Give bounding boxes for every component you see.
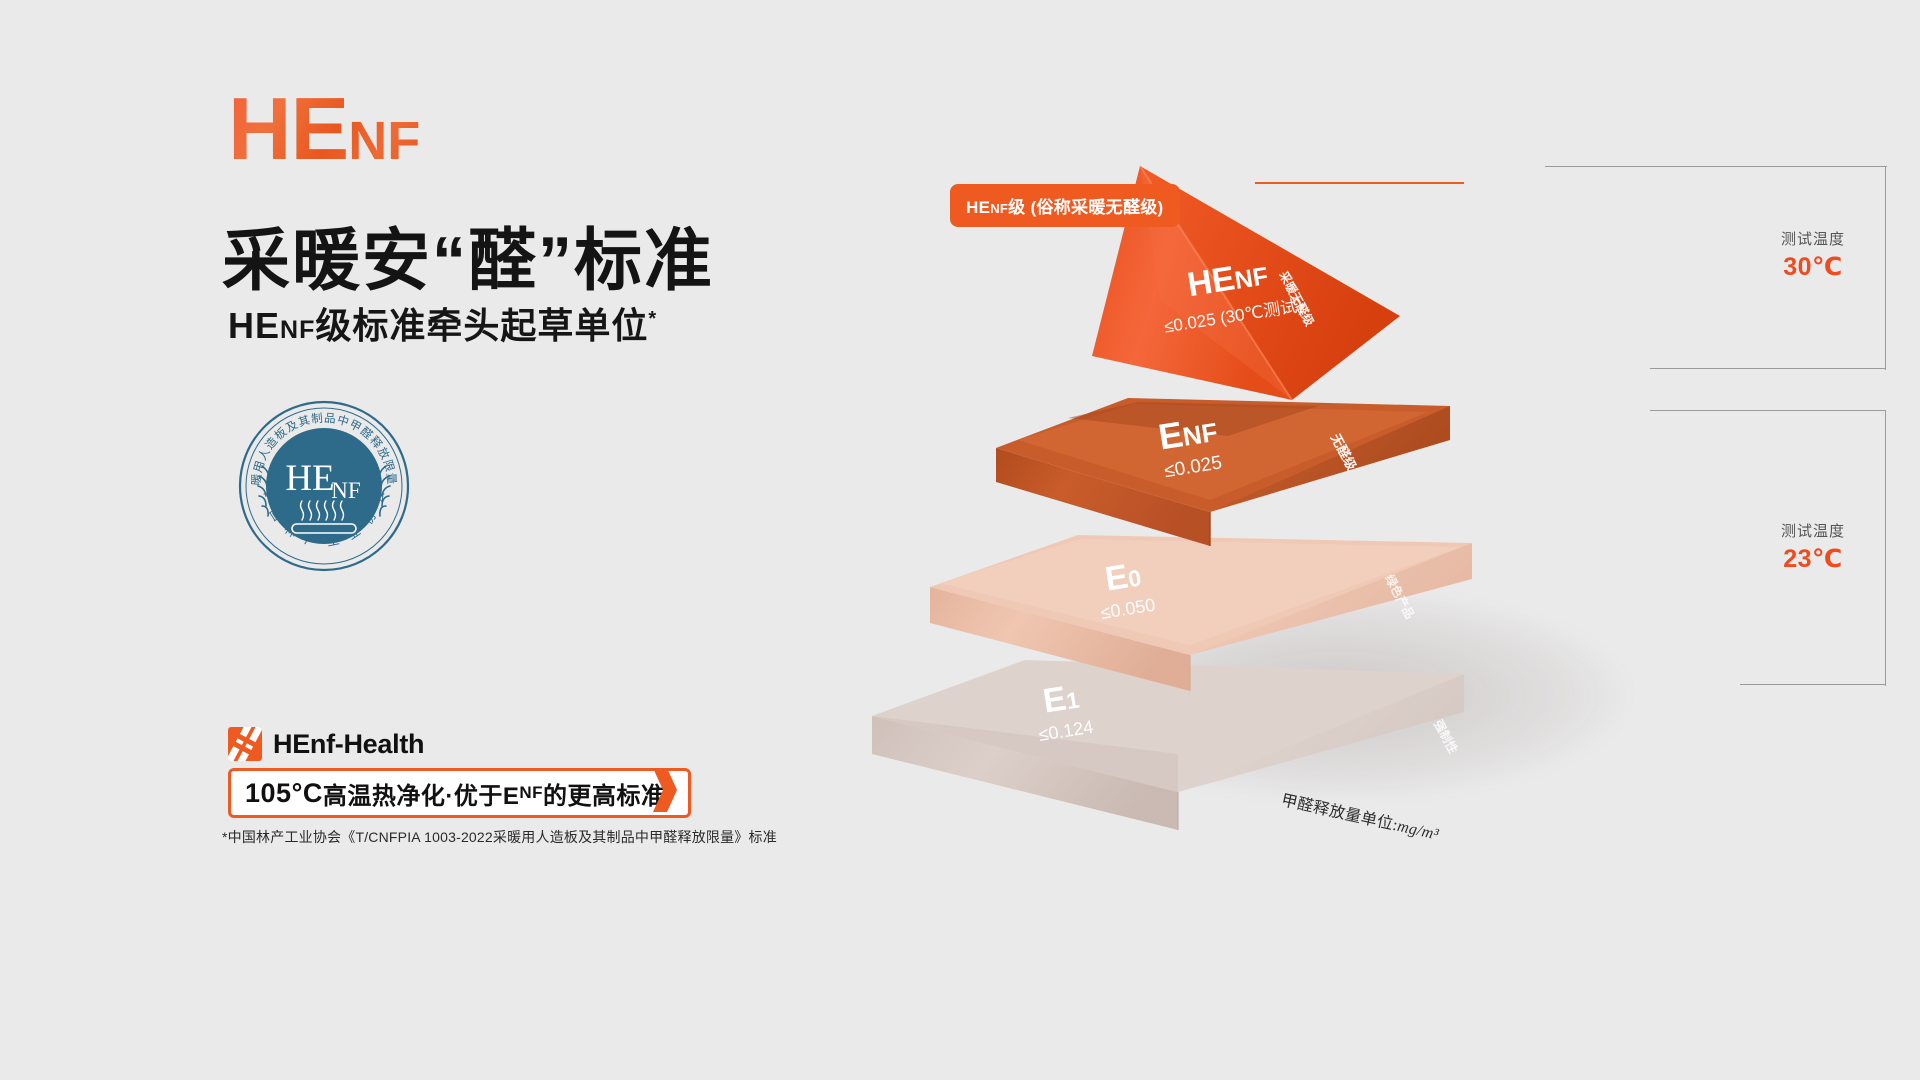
callout-prefix-small: NF — [990, 201, 1008, 216]
lightning-icon — [228, 727, 262, 761]
ribbon-text: 高温热净化·优于E — [323, 776, 520, 811]
bracket-30c-text: 测试温度 30℃ — [1743, 228, 1883, 282]
subtitle: HENF级标准牵头起草单位* — [228, 297, 657, 349]
bracket-30c-value: 30℃ — [1743, 252, 1883, 282]
bracket-30c-title: 测试温度 — [1743, 228, 1883, 249]
subtitle-prefix: HE — [228, 305, 280, 346]
svg-text:NF: NF — [331, 478, 360, 503]
bracket-23c-value: 23℃ — [1743, 544, 1883, 574]
svg-text:HE: HE — [285, 458, 334, 499]
left-panel: HENF 采暖安“醛”标准 HENF级标准牵头起草单位* 采暖用人造板及其制品中… — [0, 0, 860, 1080]
subtitle-text: 级标准牵头起草单位 — [315, 305, 648, 346]
footnote: *中国林产工业协会《T/CNFPIA 1003-2022采暖用人造板及其制品中甲… — [222, 827, 777, 847]
ribbon-degree: °C — [292, 778, 323, 809]
subtitle-asterisk: * — [648, 308, 657, 330]
brand-main: HE — [228, 79, 348, 178]
highlight-ribbon: 105°C 高温热净化·优于ENF的更高标准 — [228, 768, 691, 818]
ribbon-text-tail: 的更高标准 — [543, 776, 666, 811]
henf-health-logo: HEnf-Health — [228, 727, 424, 761]
bracket-23c: 测试温度 23℃ — [1545, 382, 1905, 712]
poster-root: HENF 采暖安“醛”标准 HENF级标准牵头起草单位* 采暖用人造板及其制品中… — [0, 0, 1920, 1080]
bracket-30c: 测试温度 30℃ — [1545, 132, 1905, 412]
bracket-23c-text: 测试温度 23℃ — [1743, 520, 1883, 574]
henf-health-label: HEnf-Health — [273, 729, 424, 760]
bracket-23c-title: 测试温度 — [1743, 520, 1883, 541]
ribbon-number: 105 — [245, 778, 292, 809]
henf-health-name: HEnf-Health — [273, 729, 424, 759]
pyramid-diagram: HENF级 (俗称采暖无醛级) — [1020, 120, 1920, 920]
brand-sub: NF — [348, 111, 420, 171]
ribbon-enf-small: NF — [519, 783, 543, 803]
callout-henf: HENF级 (俗称采暖无醛级) — [950, 184, 1180, 227]
certification-seal: 采暖用人造板及其制品中甲醛释放限量组 中 国 林 产 工 业 协 会 China… — [238, 400, 410, 572]
subtitle-prefix-small: NF — [280, 316, 315, 344]
ribbon-arrow-icon — [653, 768, 679, 812]
callout-prefix: HE — [966, 198, 990, 217]
page-title: 采暖安“醛”标准 — [222, 205, 714, 304]
callout-text: 级 (俗称采暖无醛级) — [1008, 198, 1163, 217]
callout-leader-line — [1255, 182, 1464, 184]
brand-wordmark: HENF — [228, 92, 420, 167]
